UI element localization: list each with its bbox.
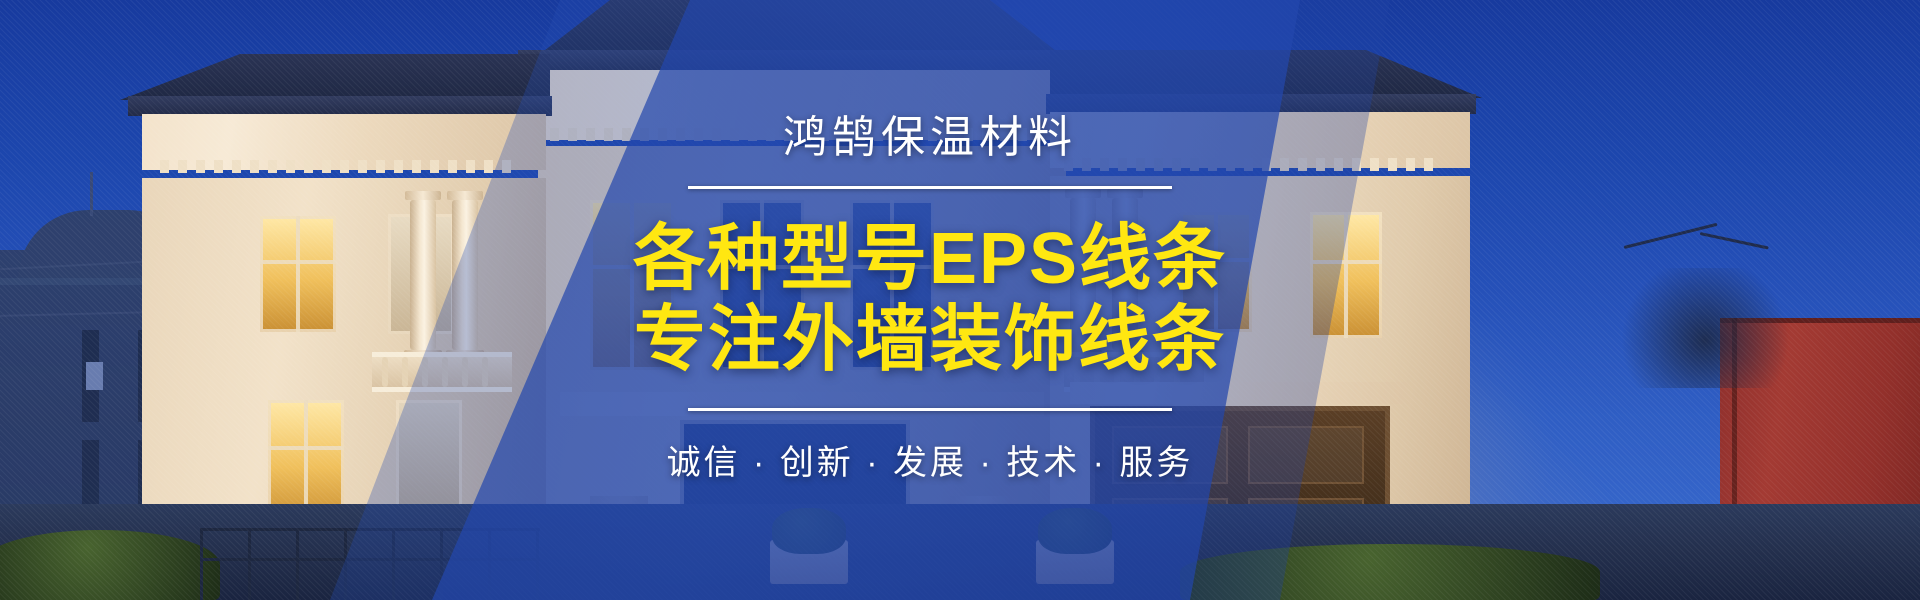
brand-name: 鸿鹄保温材料 [783, 116, 1077, 160]
banner-text-block: 鸿鹄保温材料 各种型号EPS线条 专注外墙装饰线条 诚信 · 创新 · 发展 ·… [0, 0, 1890, 600]
divider-bottom [688, 408, 1172, 411]
headline-line-2: 专注外墙装饰线条 [634, 300, 1226, 381]
divider-top [688, 186, 1172, 189]
headline-line-1: 各种型号EPS线条 [633, 219, 1227, 300]
tagline: 诚信 · 创新 · 发展 · 技术 · 服务 [667, 435, 1194, 484]
hero-banner: 鸿鹄保温材料 各种型号EPS线条 专注外墙装饰线条 诚信 · 创新 · 发展 ·… [0, 0, 1920, 600]
